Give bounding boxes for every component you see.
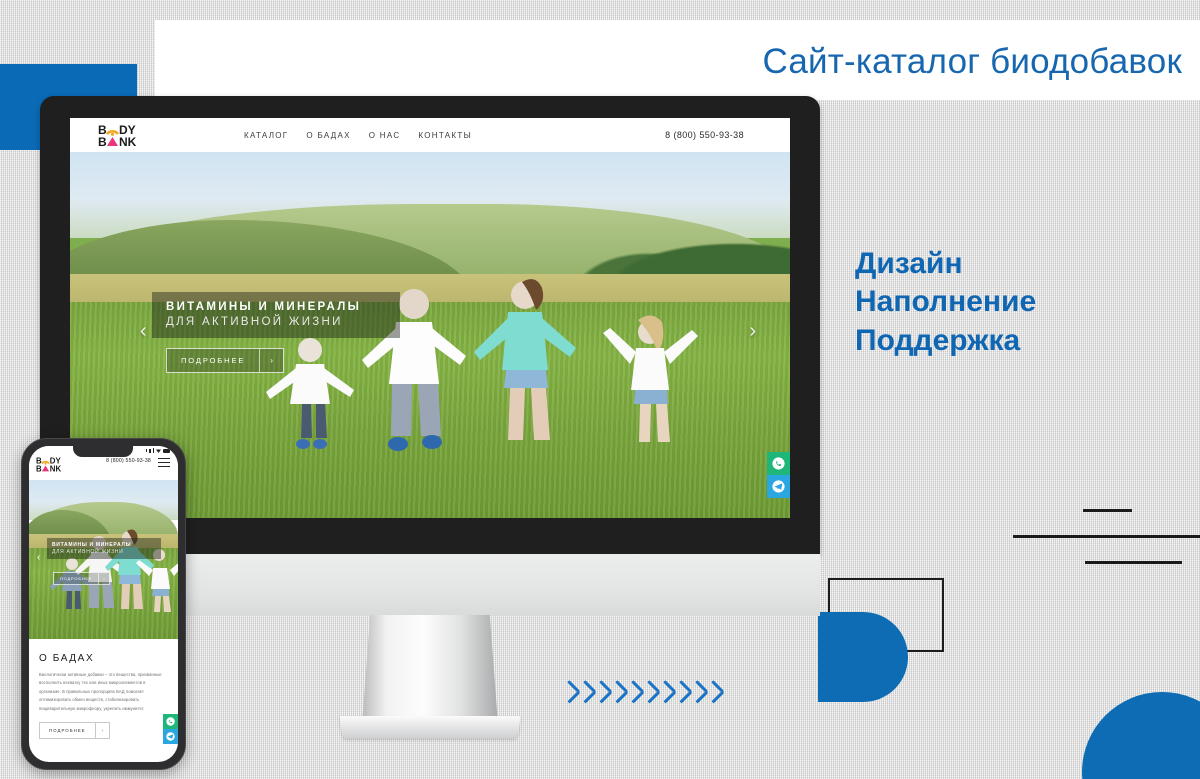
phone-hero-caption: ВИТАМИНЫ И МИНЕРАЛЫ ДЛЯ АКТИВНОЙ ЖИЗНИ xyxy=(47,538,161,559)
svg-text:NK: NK xyxy=(119,135,137,148)
phone-screen: B DY B NK 8 (800) 550-93-38 xyxy=(29,446,178,762)
nav-item-about-us[interactable]: О НАС xyxy=(369,131,401,140)
social-rail xyxy=(767,452,790,498)
phone-hero-more-button[interactable]: ПОДРОБНЕЕ › xyxy=(53,572,110,585)
phone-site-logo[interactable]: B DY B NK xyxy=(36,456,78,478)
arrow-right-icon: › xyxy=(98,573,108,584)
phone-whatsapp-button[interactable] xyxy=(163,714,178,729)
body-bank-logo-icon: B DY B NK xyxy=(36,456,78,473)
svg-text:B: B xyxy=(36,464,42,473)
svg-text:NK: NK xyxy=(50,464,62,473)
phone-hero-family-photo xyxy=(29,480,178,639)
decor-line-long xyxy=(1013,535,1200,538)
whatsapp-icon xyxy=(166,717,175,726)
hamburger-menu-icon[interactable] xyxy=(158,458,170,470)
circle-decoration xyxy=(1082,692,1200,779)
phone-hero-title-line1: ВИТАМИНЫ И МИНЕРАЛЫ xyxy=(52,542,156,548)
phone-about-title: О БАДАХ xyxy=(39,653,168,664)
feature-item-design: Дизайн xyxy=(855,245,1155,283)
body-bank-logo-icon: B DY B NK xyxy=(98,123,162,148)
telegram-icon xyxy=(166,732,175,741)
hero-more-button[interactable]: ПОДРОБНЕЕ › xyxy=(166,348,284,373)
phone-hero-more-label: ПОДРОБНЕЕ xyxy=(54,573,98,584)
site-phone-number[interactable]: 8 (800) 550-93-38 xyxy=(665,130,744,140)
decor-line-short-top xyxy=(1083,509,1132,512)
phone-status-bar xyxy=(146,448,171,453)
telegram-button[interactable] xyxy=(767,475,790,498)
poster-headline: Сайт-каталог биодобавок xyxy=(763,42,1183,82)
feature-item-support: Поддержка xyxy=(855,322,1155,360)
mobile-phone-mockup: B DY B NK 8 (800) 550-93-38 xyxy=(21,438,186,770)
site-navigation: КАТАЛОГ О БАДАХ О НАС КОНТАКТЫ xyxy=(244,131,472,140)
chevron-icon xyxy=(721,684,735,710)
monitor-stand-base xyxy=(340,716,520,738)
whatsapp-icon xyxy=(772,457,785,470)
site-header: B DY B NK КАТАЛОГ О БАДАХ О НАС КОНТАКТЫ xyxy=(70,118,790,152)
arrow-right-icon: › xyxy=(259,349,283,372)
phone-hero-slider: ВИТАМИНЫ И МИНЕРАЛЫ ДЛЯ АКТИВНОЙ ЖИЗНИ П… xyxy=(29,480,178,639)
telegram-icon xyxy=(772,480,785,493)
phone-social-rail xyxy=(163,714,178,744)
decor-line-short-bottom xyxy=(1085,561,1182,564)
phone-site-phone-number[interactable]: 8 (800) 550-93-38 xyxy=(106,458,151,464)
chevron-decoration-group xyxy=(577,684,735,710)
slider-prev-arrow-icon[interactable]: ‹ xyxy=(140,320,147,343)
hero-caption: ВИТАМИНЫ И МИНЕРАЛЫ ДЛЯ АКТИВНОЙ ЖИЗНИ xyxy=(152,292,400,338)
monitor-stand-neck xyxy=(362,615,498,725)
hero-title-line2: ДЛЯ АКТИВНОЙ ЖИЗНИ xyxy=(166,316,388,328)
nav-item-about-supplements[interactable]: О БАДАХ xyxy=(306,131,350,140)
phone-about-more-button[interactable]: ПОДРОБНЕЕ › xyxy=(39,722,110,739)
phone-about-section: О БАДАХ Биологически активные добавки – … xyxy=(29,639,178,739)
phone-telegram-button[interactable] xyxy=(163,729,178,744)
site-logo[interactable]: B DY B NK xyxy=(98,123,162,148)
half-circle-decoration xyxy=(818,612,908,702)
hero-more-button-label: ПОДРОБНЕЕ xyxy=(167,349,259,372)
feature-list: Дизайн Наполнение Поддержка xyxy=(855,245,1155,360)
arrow-right-icon: › xyxy=(95,723,109,738)
whatsapp-button[interactable] xyxy=(767,452,790,475)
feature-item-content: Наполнение xyxy=(855,283,1155,321)
svg-text:B: B xyxy=(98,135,107,148)
hero-title-line1: ВИТАМИНЫ И МИНЕРАЛЫ xyxy=(166,301,388,313)
phone-hero-title-line2: ДЛЯ АКТИВНОЙ ЖИЗНИ xyxy=(52,549,156,555)
phone-slider-prev-arrow-icon[interactable]: ‹ xyxy=(37,552,40,563)
nav-item-contacts[interactable]: КОНТАКТЫ xyxy=(418,131,472,140)
phone-notch xyxy=(73,446,133,457)
phone-about-body: Биологически активные добавки – это веще… xyxy=(39,671,168,713)
slider-next-arrow-icon[interactable]: › xyxy=(749,320,756,343)
phone-about-more-label: ПОДРОБНЕЕ xyxy=(40,723,95,738)
nav-item-catalog[interactable]: КАТАЛОГ xyxy=(244,131,288,140)
poster-stage: Сайт-каталог биодобавок Дизайн Наполнени… xyxy=(0,0,1200,779)
